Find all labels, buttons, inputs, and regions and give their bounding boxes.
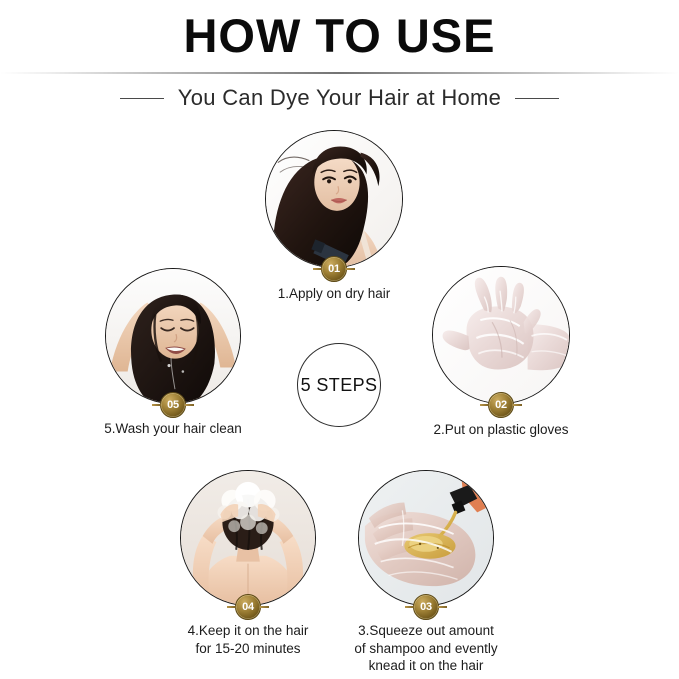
infographic-page: HOW TO USE You Can Dye Your Hair at Home	[0, 0, 679, 679]
badge-wing-right-01	[346, 268, 355, 270]
step-01-badge: 01	[321, 256, 347, 282]
step-03-photo	[358, 470, 494, 606]
step-01-caption: 1.Apply on dry hair	[231, 285, 437, 303]
step-01-photo	[265, 130, 403, 268]
step-05-caption: 5.Wash your hair clean	[67, 420, 279, 438]
step-04: 04 4.Keep it on the hair for 15-20 minut…	[180, 470, 316, 660]
step-04-caption: 4.Keep it on the hair for 15-20 minutes	[148, 622, 348, 657]
step-02-badge-number: 02	[495, 399, 507, 411]
step-02: 02 2.Put on plastic gloves	[432, 266, 570, 444]
badge-wing-right-02	[513, 404, 522, 406]
subtitle-rule-right	[515, 98, 559, 99]
step-03-badge-number: 03	[420, 601, 432, 613]
step-03-badge: 03	[413, 594, 439, 620]
step-05-badge: 05	[160, 392, 186, 418]
title-divider	[0, 72, 679, 74]
step-01-badge-number: 01	[328, 263, 340, 275]
step-04-photo	[180, 470, 316, 606]
center-steps-badge: 5 STEPS	[297, 343, 381, 427]
badge-wing-left-04	[227, 606, 236, 608]
badge-wing-left-02	[480, 404, 489, 406]
step-05-photo	[105, 268, 241, 404]
subtitle-row: You Can Dye Your Hair at Home	[0, 84, 679, 112]
step-03: 03 3.Squeeze out amount of shampoo and e…	[358, 470, 494, 678]
step-05-badge-number: 05	[167, 399, 179, 411]
center-steps-label: 5 STEPS	[301, 375, 378, 396]
step-05: 05 5.Wash your hair clean	[105, 268, 241, 443]
step-02-photo	[432, 266, 570, 404]
badge-wing-left-03	[405, 606, 414, 608]
step-04-badge: 04	[235, 594, 261, 620]
subtitle: You Can Dye Your Hair at Home	[178, 84, 501, 112]
header: HOW TO USE You Can Dye Your Hair at Home	[0, 0, 679, 120]
subtitle-rule-left	[120, 98, 164, 99]
badge-wing-right-03	[438, 606, 447, 608]
page-title: HOW TO USE	[0, 8, 679, 64]
step-04-badge-number: 04	[242, 601, 254, 613]
badge-wing-right-04	[260, 606, 269, 608]
step-02-badge: 02	[488, 392, 514, 418]
badge-wing-left-05	[152, 404, 161, 406]
badge-wing-left-01	[313, 268, 322, 270]
step-03-caption: 3.Squeeze out amount of shampoo and even…	[320, 622, 532, 675]
step-02-caption: 2.Put on plastic gloves	[398, 421, 604, 439]
badge-wing-right-05	[185, 404, 194, 406]
step-01: 01 1.Apply on dry hair	[265, 130, 403, 310]
